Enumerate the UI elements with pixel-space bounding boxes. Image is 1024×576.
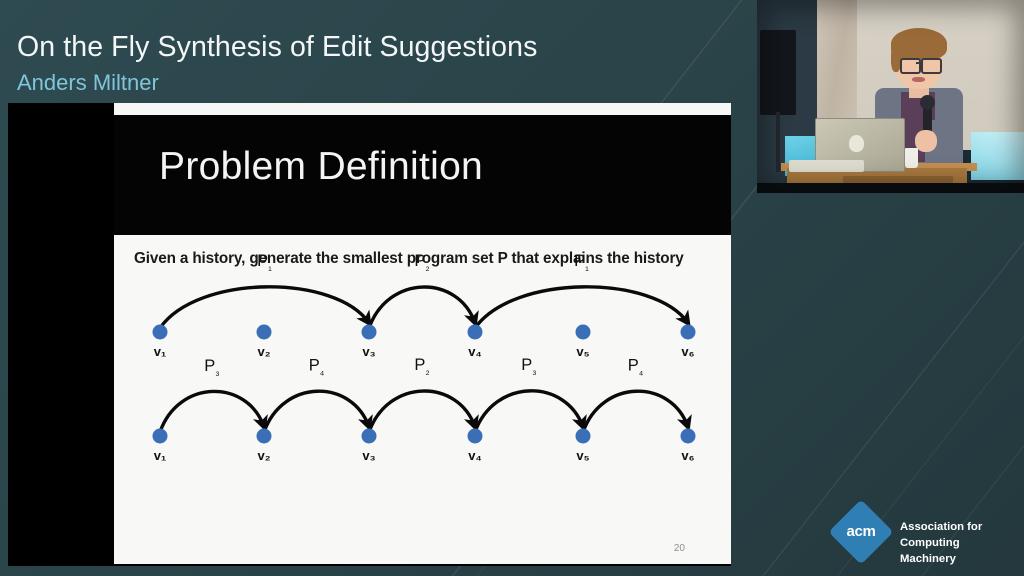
acm-org-line1: Association for [900, 519, 1014, 535]
program-label-text: P₃ [204, 357, 220, 378]
edit-arrow [160, 287, 369, 328]
acm-wordmark: acm [842, 523, 880, 540]
slide-number: 20 [674, 543, 685, 554]
history-node-label: v₄ [468, 448, 481, 463]
program-label-text: P₄ [628, 357, 644, 378]
page-title: On the Fly Synthesis of Edit Suggestions [17, 31, 537, 64]
history-node-label: v₃ [362, 344, 375, 359]
history-node [681, 325, 696, 340]
history-node [257, 429, 272, 444]
talk-header: On the Fly Synthesis of Edit Suggestions… [0, 0, 760, 100]
edit-arrow [475, 391, 583, 432]
program-label: P₃ [204, 357, 220, 378]
slide-body: Given a history, generate the smallest p… [114, 235, 731, 564]
program-label: P₂ [414, 356, 429, 377]
edit-arrow [160, 391, 264, 432]
history-node [468, 325, 483, 340]
program-label-text: P₄ [309, 357, 325, 378]
history-node-label: v₅ [576, 344, 589, 359]
program-label: P₃ [521, 356, 537, 377]
edit-arrow [369, 391, 475, 432]
history-node [576, 429, 591, 444]
speaker-name: Anders Miltner [17, 70, 159, 96]
video-vignette [757, 0, 1024, 193]
history-node-label: v₅ [576, 448, 589, 463]
slide-area: Problem Definition Given a history, gene… [8, 103, 731, 566]
presentation-viewer: On the Fly Synthesis of Edit Suggestions… [0, 0, 1024, 576]
history-node-label: v₁ [154, 344, 167, 359]
history-node-label: v₃ [362, 448, 375, 463]
history-node-label: v₂ [257, 448, 270, 463]
history-node [257, 325, 272, 340]
history-node-label: v₄ [468, 344, 481, 359]
program-label: P₄ [628, 357, 644, 378]
history-node [153, 429, 168, 444]
program-label: P₁ [574, 252, 589, 273]
program-label-text: P₃ [521, 356, 537, 377]
speaker-video-feed[interactable] [757, 0, 1024, 193]
acm-org-name: Association for Computing Machinery [900, 519, 1014, 567]
edit-arrow [475, 287, 688, 328]
history-node-label: v₆ [681, 448, 694, 463]
edit-arrow [369, 287, 475, 328]
history-row-2: P₃P₄P₂P₃P₄v₁v₂v₃v₄v₅v₆ [153, 356, 696, 463]
history-node [681, 429, 696, 444]
slide-title: Problem Definition [159, 145, 483, 189]
history-node-label: v₁ [154, 448, 167, 463]
history-node-label: v₂ [257, 344, 270, 359]
history-node [153, 325, 168, 340]
edit-arrow [264, 391, 369, 432]
acm-logo: acm Association for Computing Machinery [838, 505, 1014, 567]
program-label-text: P₂ [414, 252, 429, 273]
program-label: P₁ [257, 252, 272, 273]
program-label-text: P₁ [257, 252, 272, 273]
history-node [468, 429, 483, 444]
history-node [362, 429, 377, 444]
program-label-text: P₁ [574, 252, 589, 273]
history-diagram: P₁P₂P₁v₁v₂v₃v₄v₅v₆P₃P₄P₂P₃P₄v₁v₂v₃v₄v₅v₆ [114, 235, 731, 564]
history-row-1: P₁P₂P₁v₁v₂v₃v₄v₅v₆ [153, 252, 696, 359]
program-label: P₂ [414, 252, 429, 273]
edit-arrow [583, 391, 688, 432]
history-node [576, 325, 591, 340]
slide-title-band: Problem Definition [114, 115, 731, 235]
history-node [362, 325, 377, 340]
program-label-text: P₂ [414, 356, 429, 377]
acm-org-line2: Computing Machinery [900, 535, 1014, 567]
program-label: P₄ [309, 357, 325, 378]
history-node-label: v₆ [681, 344, 694, 359]
